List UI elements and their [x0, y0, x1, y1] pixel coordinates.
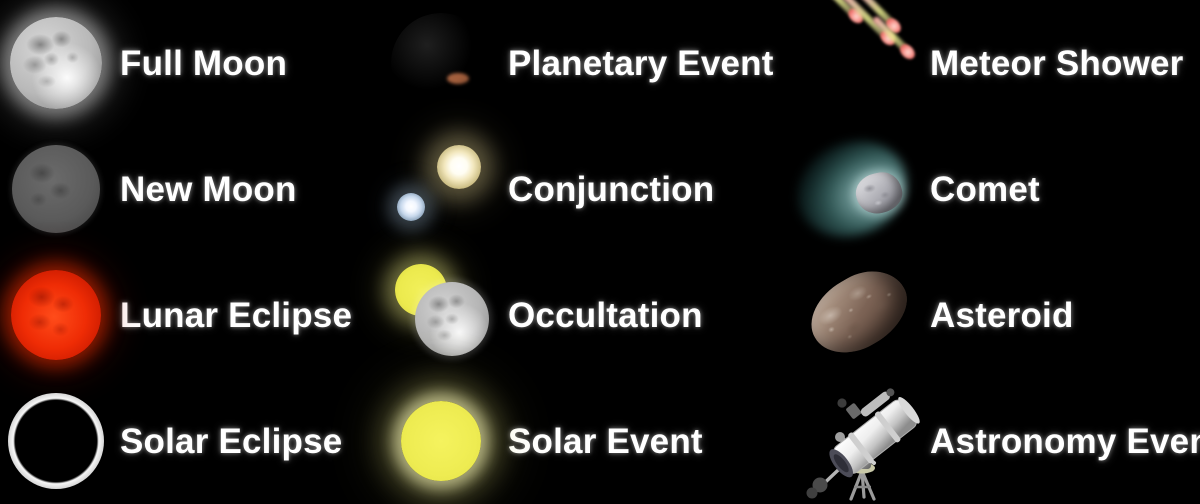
- legend-item-lunar-eclipse[interactable]: Lunar Eclipse: [0, 252, 370, 378]
- legend-item-comet[interactable]: Comet: [780, 126, 1200, 252]
- solar-eclipse-icon: [8, 393, 104, 489]
- legend-item-meteor-shower[interactable]: Meteor Shower: [780, 0, 1200, 126]
- telescope-icon: [796, 379, 924, 503]
- lunar-eclipse-icon: [11, 270, 101, 360]
- asteroid-icon-cell: [790, 252, 930, 378]
- meteor-shower-icon-cell: [790, 0, 930, 126]
- legend-label-asteroid: Asteroid: [930, 298, 1074, 333]
- legend-grid: Full Moon Planetary Event: [0, 0, 1200, 504]
- comet-icon: [794, 133, 926, 245]
- lunar-eclipse-icon-cell: [0, 252, 112, 378]
- legend-label-occultation: Occultation: [508, 298, 703, 333]
- legend-item-solar-event[interactable]: Solar Event: [370, 378, 780, 504]
- occultation-icon: [381, 256, 501, 374]
- legend-label-conjunction: Conjunction: [508, 172, 714, 207]
- telescope-icon-cell: [790, 378, 930, 504]
- lunar-maria-detail: [10, 17, 102, 109]
- lunar-maria-detail: [415, 282, 489, 356]
- legend-item-occultation[interactable]: Occultation: [370, 252, 780, 378]
- legend-label-planetary-event: Planetary Event: [508, 46, 774, 81]
- conjunction-icon: [381, 131, 501, 247]
- legend-label-solar-event: Solar Event: [508, 424, 703, 459]
- new-moon-icon: [12, 145, 100, 233]
- asteroid-rock-detail: [797, 256, 920, 368]
- legend-item-solar-eclipse[interactable]: Solar Eclipse: [0, 378, 370, 504]
- jupiter-planet-icon: [391, 13, 491, 113]
- new-moon-icon-cell: [0, 126, 112, 252]
- legend-label-solar-eclipse: Solar Eclipse: [120, 424, 342, 459]
- legend-item-asteroid[interactable]: Asteroid: [780, 252, 1200, 378]
- legend-item-astronomy-event[interactable]: Astronomy Event: [780, 378, 1200, 504]
- occultation-icon-cell: [376, 252, 506, 378]
- solar-event-icon: [401, 401, 481, 481]
- event-legend-panel: Full Moon Planetary Event: [0, 0, 1200, 504]
- legend-label-full-moon: Full Moon: [120, 46, 287, 81]
- asteroid-icon: [800, 263, 920, 367]
- legend-item-conjunction[interactable]: Conjunction: [370, 126, 780, 252]
- jupiter-planet-icon-cell: [376, 0, 506, 126]
- legend-item-full-moon[interactable]: Full Moon: [0, 0, 370, 126]
- planet-shading-detail: [391, 13, 491, 113]
- lunar-maria-detail: [12, 145, 100, 233]
- full-moon-icon: [10, 17, 102, 109]
- legend-item-planetary-event[interactable]: Planetary Event: [370, 0, 780, 126]
- legend-label-astronomy-event: Astronomy Event: [930, 424, 1200, 459]
- lunar-maria-detail: [11, 270, 101, 360]
- legend-label-new-moon: New Moon: [120, 172, 297, 207]
- occulting-moon-detail: [415, 282, 489, 356]
- bright-star-orb: [437, 145, 481, 189]
- comet-icon-cell: [790, 126, 930, 252]
- blue-star-orb: [397, 193, 425, 221]
- legend-item-new-moon[interactable]: New Moon: [0, 126, 370, 252]
- full-moon-icon-cell: [0, 0, 112, 126]
- legend-label-lunar-eclipse: Lunar Eclipse: [120, 298, 352, 333]
- legend-label-meteor-shower: Meteor Shower: [930, 46, 1183, 81]
- solar-eclipse-icon-cell: [0, 378, 112, 504]
- meteor-shower-icon: [795, 4, 925, 122]
- legend-label-comet: Comet: [930, 172, 1040, 207]
- conjunction-icon-cell: [376, 126, 506, 252]
- solar-event-icon-cell: [376, 378, 506, 504]
